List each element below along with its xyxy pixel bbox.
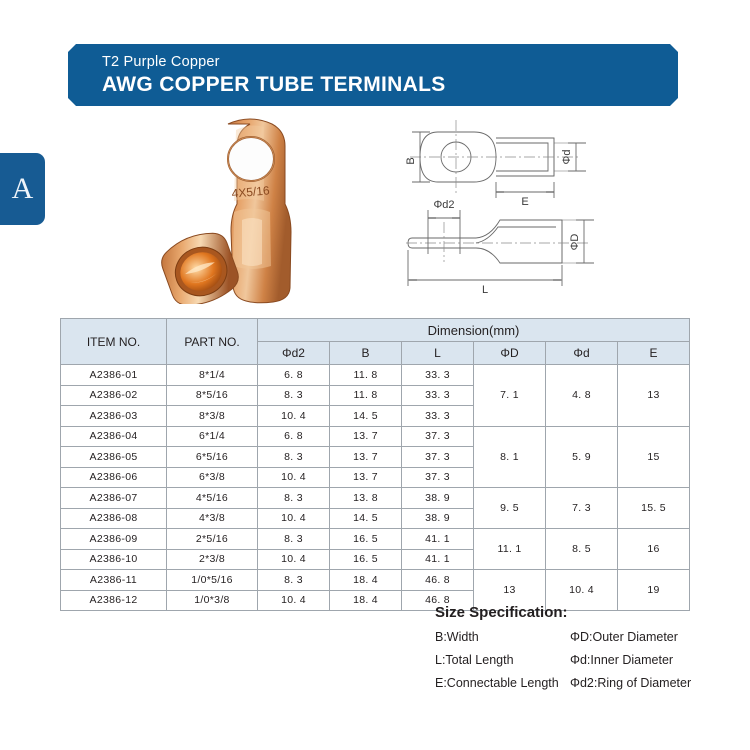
table-header: ITEM NO. PART NO. Dimension(mm) Φd2 B L …	[61, 319, 690, 365]
drawing-label-phi-d2: Φd2	[433, 199, 454, 211]
cell-phi-d: 7. 3	[546, 488, 618, 529]
cell-l: 37. 3	[402, 467, 474, 488]
cell-phi-d2: 8. 3	[258, 447, 330, 468]
cell-part-no: 2*5/16	[167, 529, 258, 550]
cell-part-no: 6*1/4	[167, 426, 258, 447]
cell-part-no: 4*3/8	[167, 508, 258, 529]
cell-phi-d: 8. 5	[546, 529, 618, 570]
size-spec-left-column: B:Width L:Total Length E:Connectable Len…	[435, 630, 570, 690]
cell-phi-d2: 10. 4	[258, 590, 330, 611]
cell-l: 33. 3	[402, 365, 474, 386]
cell-item-no: A2386-05	[61, 447, 167, 468]
product-photo: 4X5/16	[150, 108, 345, 304]
table-body: A2386-018*1/46. 811. 833. 37. 14. 813A23…	[61, 365, 690, 611]
cell-b: 18. 4	[330, 590, 402, 611]
cell-b: 16. 5	[330, 549, 402, 570]
cell-b: 11. 8	[330, 365, 402, 386]
cell-part-no: 8*5/16	[167, 385, 258, 406]
size-spec-item-phi-D: ΦD:Outer Diameter	[570, 630, 691, 644]
cell-part-no: 1/0*3/8	[167, 590, 258, 611]
column-header-part-no: PART NO.	[167, 319, 258, 365]
size-spec-columns: B:Width L:Total Length E:Connectable Len…	[435, 630, 735, 690]
cell-b: 13. 8	[330, 488, 402, 509]
cell-part-no: 6*5/16	[167, 447, 258, 468]
size-spec-right-column: ΦD:Outer Diameter Φd:Inner Diameter Φd2:…	[570, 630, 691, 690]
cell-item-no: A2386-06	[61, 467, 167, 488]
cell-phi-d2: 6. 8	[258, 365, 330, 386]
cell-phi-D: 9. 5	[474, 488, 546, 529]
cell-item-no: A2386-03	[61, 406, 167, 427]
column-header-phi-d2: Φd2	[258, 342, 330, 365]
cell-phi-d2: 8. 3	[258, 488, 330, 509]
cell-b: 16. 5	[330, 529, 402, 550]
cell-b: 13. 7	[330, 426, 402, 447]
column-header-l: L	[402, 342, 474, 365]
technical-drawings: B E Φd Φd2 ΦD L	[400, 110, 730, 295]
column-header-b: B	[330, 342, 402, 365]
size-spec-title: Size Specification:	[435, 604, 735, 621]
banner-subtitle: T2 Purple Copper	[102, 54, 678, 70]
header-banner: T2 Purple Copper AWG COPPER TUBE TERMINA…	[68, 44, 678, 106]
cell-b: 18. 4	[330, 570, 402, 591]
drawing-label-b: B	[405, 157, 417, 164]
cell-b: 13. 7	[330, 447, 402, 468]
cell-item-no: A2386-10	[61, 549, 167, 570]
section-tab-letter: A	[12, 174, 34, 204]
size-spec-item-phi-d: Φd:Inner Diameter	[570, 653, 691, 667]
drawing-label-phi-D: ΦD	[569, 234, 581, 251]
cell-l: 33. 3	[402, 385, 474, 406]
cell-part-no: 8*3/8	[167, 406, 258, 427]
banner-title: AWG COPPER TUBE TERMINALS	[102, 73, 678, 97]
product-photo-image: 4X5/16	[150, 108, 345, 304]
technical-drawings-svg: B E Φd Φd2 ΦD L	[400, 110, 730, 295]
column-header-phi-d: Φd	[546, 342, 618, 365]
cell-phi-d2: 8. 3	[258, 570, 330, 591]
cell-item-no: A2386-11	[61, 570, 167, 591]
cell-l: 38. 9	[402, 508, 474, 529]
cell-l: 38. 9	[402, 488, 474, 509]
drawing-label-l: L	[482, 284, 488, 295]
cell-item-no: A2386-02	[61, 385, 167, 406]
cell-phi-d2: 8. 3	[258, 385, 330, 406]
table-row: A2386-018*1/46. 811. 833. 37. 14. 813	[61, 365, 690, 386]
cell-phi-D: 7. 1	[474, 365, 546, 427]
cell-b: 11. 8	[330, 385, 402, 406]
cell-l: 37. 3	[402, 426, 474, 447]
cell-l: 37. 3	[402, 447, 474, 468]
column-header-e: E	[618, 342, 690, 365]
cell-item-no: A2386-08	[61, 508, 167, 529]
table-row: A2386-092*5/168. 316. 541. 111. 18. 516	[61, 529, 690, 550]
cell-part-no: 4*5/16	[167, 488, 258, 509]
cell-part-no: 8*1/4	[167, 365, 258, 386]
cell-phi-d2: 6. 8	[258, 426, 330, 447]
cell-b: 14. 5	[330, 406, 402, 427]
cell-b: 13. 7	[330, 467, 402, 488]
cell-phi-d: 5. 9	[546, 426, 618, 488]
cell-e: 15. 5	[618, 488, 690, 529]
column-header-item-no: ITEM NO.	[61, 319, 167, 365]
size-spec-item-b: B:Width	[435, 630, 570, 644]
cell-phi-D: 11. 1	[474, 529, 546, 570]
specification-table: ITEM NO. PART NO. Dimension(mm) Φd2 B L …	[60, 318, 690, 611]
cell-item-no: A2386-07	[61, 488, 167, 509]
size-spec-item-e: E:Connectable Length	[435, 676, 570, 690]
cell-phi-d2: 10. 4	[258, 406, 330, 427]
drawing-label-e: E	[521, 196, 528, 208]
cell-item-no: A2386-01	[61, 365, 167, 386]
cell-part-no: 2*3/8	[167, 549, 258, 570]
size-specification: Size Specification: B:Width L:Total Leng…	[435, 604, 735, 690]
cell-phi-d2: 10. 4	[258, 467, 330, 488]
cell-phi-d: 4. 8	[546, 365, 618, 427]
cell-phi-d2: 10. 4	[258, 549, 330, 570]
cell-phi-d2: 8. 3	[258, 529, 330, 550]
cell-item-no: A2386-09	[61, 529, 167, 550]
size-spec-item-phi-d2: Φd2:Ring of Diameter	[570, 676, 691, 690]
drawing-label-phi-d: Φd	[561, 150, 573, 165]
table-header-row-1: ITEM NO. PART NO. Dimension(mm)	[61, 319, 690, 342]
size-spec-item-l: L:Total Length	[435, 653, 570, 667]
cell-l: 46. 8	[402, 570, 474, 591]
cell-part-no: 1/0*5/16	[167, 570, 258, 591]
cell-e: 16	[618, 529, 690, 570]
cell-item-no: A2386-04	[61, 426, 167, 447]
column-header-phi-D-cap: ΦD	[474, 342, 546, 365]
table-row: A2386-046*1/46. 813. 737. 38. 15. 915	[61, 426, 690, 447]
section-tab-badge: A	[0, 153, 45, 225]
cell-item-no: A2386-12	[61, 590, 167, 611]
table-row: A2386-111/0*5/168. 318. 446. 81310. 419	[61, 570, 690, 591]
cell-part-no: 6*3/8	[167, 467, 258, 488]
cell-b: 14. 5	[330, 508, 402, 529]
cell-phi-D: 8. 1	[474, 426, 546, 488]
cell-e: 15	[618, 426, 690, 488]
cell-l: 41. 1	[402, 549, 474, 570]
table-row: A2386-074*5/168. 313. 838. 99. 57. 315. …	[61, 488, 690, 509]
cell-e: 13	[618, 365, 690, 427]
column-header-dimension-group: Dimension(mm)	[258, 319, 690, 342]
cell-phi-d2: 10. 4	[258, 508, 330, 529]
cell-l: 41. 1	[402, 529, 474, 550]
cell-l: 33. 3	[402, 406, 474, 427]
